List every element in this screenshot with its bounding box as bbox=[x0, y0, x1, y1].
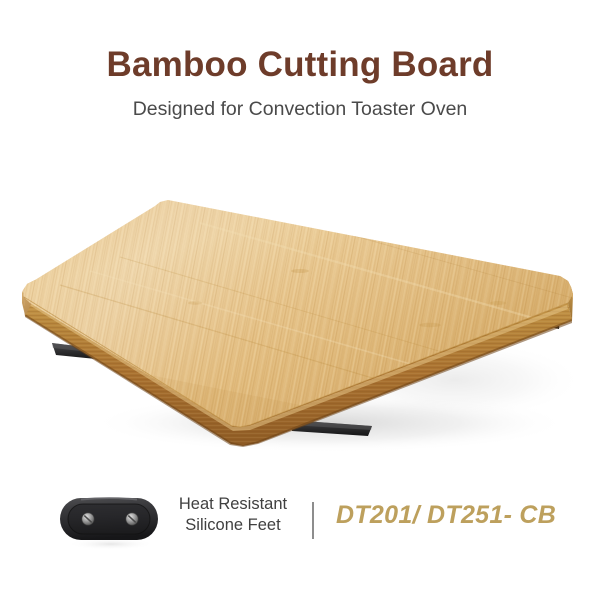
silicone-foot-figure bbox=[58, 492, 162, 550]
feature-label-line-2: Silicone Feet bbox=[160, 515, 306, 536]
foot-screw-right bbox=[126, 513, 138, 525]
foot-screw-left bbox=[82, 513, 94, 525]
vertical-divider bbox=[312, 502, 314, 539]
silicone-foot-icon bbox=[58, 492, 162, 550]
header: Bamboo Cutting Board Designed for Convec… bbox=[0, 44, 600, 122]
page-title: Bamboo Cutting Board bbox=[0, 44, 600, 86]
bamboo-cutting-board-illustration bbox=[0, 175, 600, 465]
product-banner: Bamboo Cutting Board Designed for Convec… bbox=[0, 0, 600, 600]
feature-bar: Heat Resistant Silicone Feet DT201/ DT25… bbox=[0, 480, 600, 570]
model-code: DT201/ DT251- CB bbox=[336, 498, 576, 532]
feature-label: Heat Resistant Silicone Feet bbox=[160, 494, 306, 536]
product-image bbox=[0, 175, 600, 465]
feature-label-line-1: Heat Resistant bbox=[160, 494, 306, 515]
page-subtitle: Designed for Convection Toaster Oven bbox=[0, 96, 600, 122]
